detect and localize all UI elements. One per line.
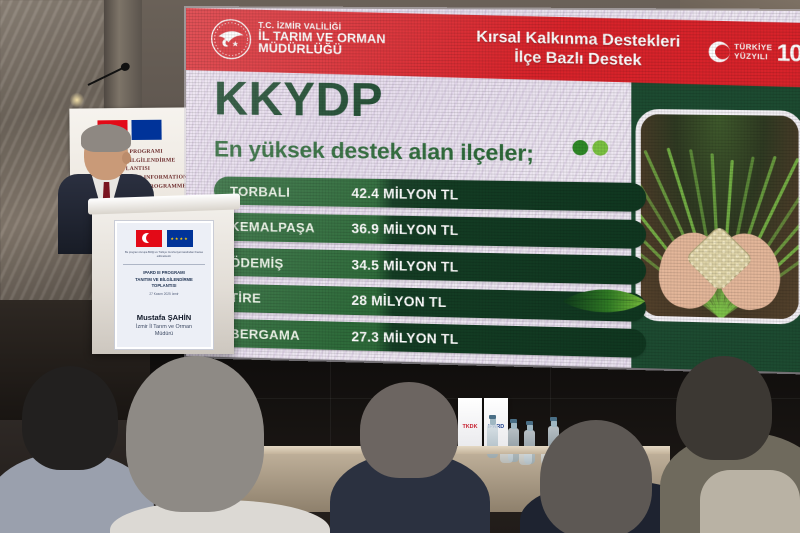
district-amount: 42.4 MİLYON TL bbox=[351, 185, 458, 202]
table-sign-tkdk-label: TKDK bbox=[458, 424, 482, 430]
podium-sign: ★★★★ Bu program Avrupa Birliği ve Türkiy… bbox=[114, 220, 214, 350]
district-name: BERGAMA bbox=[214, 325, 351, 344]
district-row: ÖDEMİŞ34.5 MİLYON TL bbox=[214, 248, 646, 285]
slide-subtitle: En yüksek destek alan ilçeler; bbox=[214, 136, 534, 167]
audience-head bbox=[126, 356, 264, 512]
century-number: 100 bbox=[777, 39, 800, 68]
hands-holding-seeds bbox=[662, 219, 777, 310]
audience-head bbox=[676, 356, 772, 460]
district-support-list: TORBALI42.4 MİLYON TLKEMALPAŞA36.9 MİLYO… bbox=[214, 176, 646, 365]
district-amount: 27.3 MİLYON TL bbox=[351, 329, 458, 347]
district-amount: 28 MİLYON TL bbox=[351, 293, 446, 310]
conference-photo-scene: IPARD III PROGRAMI TANITIM VE BİLGİLENDİ… bbox=[0, 0, 800, 533]
audience-chair-back bbox=[700, 470, 800, 533]
century-text: TÜRKİYE YÜZYILI bbox=[734, 43, 772, 61]
podium-sign-program: IPARD III PROGRAMI TANITIM VE BİLGİLENDİ… bbox=[115, 270, 213, 290]
district-amount: 34.5 MİLYON TL bbox=[351, 257, 458, 274]
green-dot-light-icon bbox=[592, 140, 608, 156]
turkiye-yuzyili-logo: TÜRKİYE YÜZYILI 100 bbox=[709, 37, 800, 68]
slide-org-title: T.C. İZMİR VALİLİĞİ İL TARIM VE ORMAN MÜ… bbox=[258, 21, 385, 59]
podium: ★★★★ Bu program Avrupa Birliği ve Türkiy… bbox=[92, 206, 234, 354]
district-row: TORBALI42.4 MİLYON TL bbox=[214, 176, 646, 211]
district-name: TİRE bbox=[214, 290, 351, 308]
podium-role-line-1: İzmir İl Tarım ve Orman bbox=[115, 324, 213, 331]
green-leaf-graphic bbox=[562, 284, 646, 319]
audience-head bbox=[360, 382, 458, 478]
speaker-ear bbox=[122, 152, 131, 164]
podium-sign-divider bbox=[123, 264, 205, 265]
audience-head bbox=[540, 420, 652, 533]
turkish-flag-icon bbox=[136, 230, 162, 247]
eu-flag-icon: ★★★★ bbox=[167, 230, 193, 247]
podium-sign-micro-text: Bu program Avrupa Birliği ve Türkiye Cum… bbox=[115, 251, 213, 259]
table-sign-tkdk: TKDK bbox=[458, 398, 482, 450]
green-dot-dark-icon bbox=[572, 140, 588, 156]
district-name: ÖDEMİŞ bbox=[214, 254, 351, 272]
crescent-icon bbox=[709, 41, 730, 62]
podium-sign-flags: ★★★★ bbox=[115, 230, 213, 247]
podium-program-line-3: TOPLANTISI bbox=[119, 283, 209, 290]
district-row: KEMALPAŞA36.9 MİLYON TL bbox=[214, 212, 646, 248]
district-name: KEMALPAŞA bbox=[214, 219, 351, 237]
audience-head bbox=[22, 366, 118, 470]
district-amount: 36.9 MİLYON TL bbox=[351, 221, 458, 238]
podium-program-line-1: IPARD III PROGRAMI bbox=[119, 270, 209, 277]
speaker-hair bbox=[81, 124, 131, 152]
district-row: BERGAMA27.3 MİLYON TL bbox=[214, 319, 646, 358]
subtitle-dots bbox=[572, 140, 608, 156]
podium-sign-name: Mustafa ŞAHİN bbox=[115, 313, 213, 322]
eu-stars-icon: ★★★★ bbox=[167, 230, 193, 247]
slide-heading: KKYDP bbox=[214, 70, 383, 127]
century-line-2: YÜZYILI bbox=[734, 52, 772, 62]
podium-role-line-2: Müdürü bbox=[115, 331, 213, 338]
podium-sign-date: 27 Kasım 2025 İzmir bbox=[115, 292, 213, 296]
slide-header-title: Kırsal Kalkınma Destekleri İlçe Bazlı De… bbox=[448, 27, 710, 74]
podium-sign-role: İzmir İl Tarım ve Orman Müdürü bbox=[115, 324, 213, 339]
ceiling-light-glow bbox=[70, 92, 84, 108]
ministry-emblem-icon bbox=[210, 18, 252, 61]
podium-program-line-2: TANITIM VE BİLGİLENDİRME bbox=[119, 277, 209, 284]
presentation-slide-screen: T.C. İZMİR VALİLİĞİ İL TARIM VE ORMAN MÜ… bbox=[186, 8, 800, 373]
slide-photo-card bbox=[636, 109, 800, 325]
